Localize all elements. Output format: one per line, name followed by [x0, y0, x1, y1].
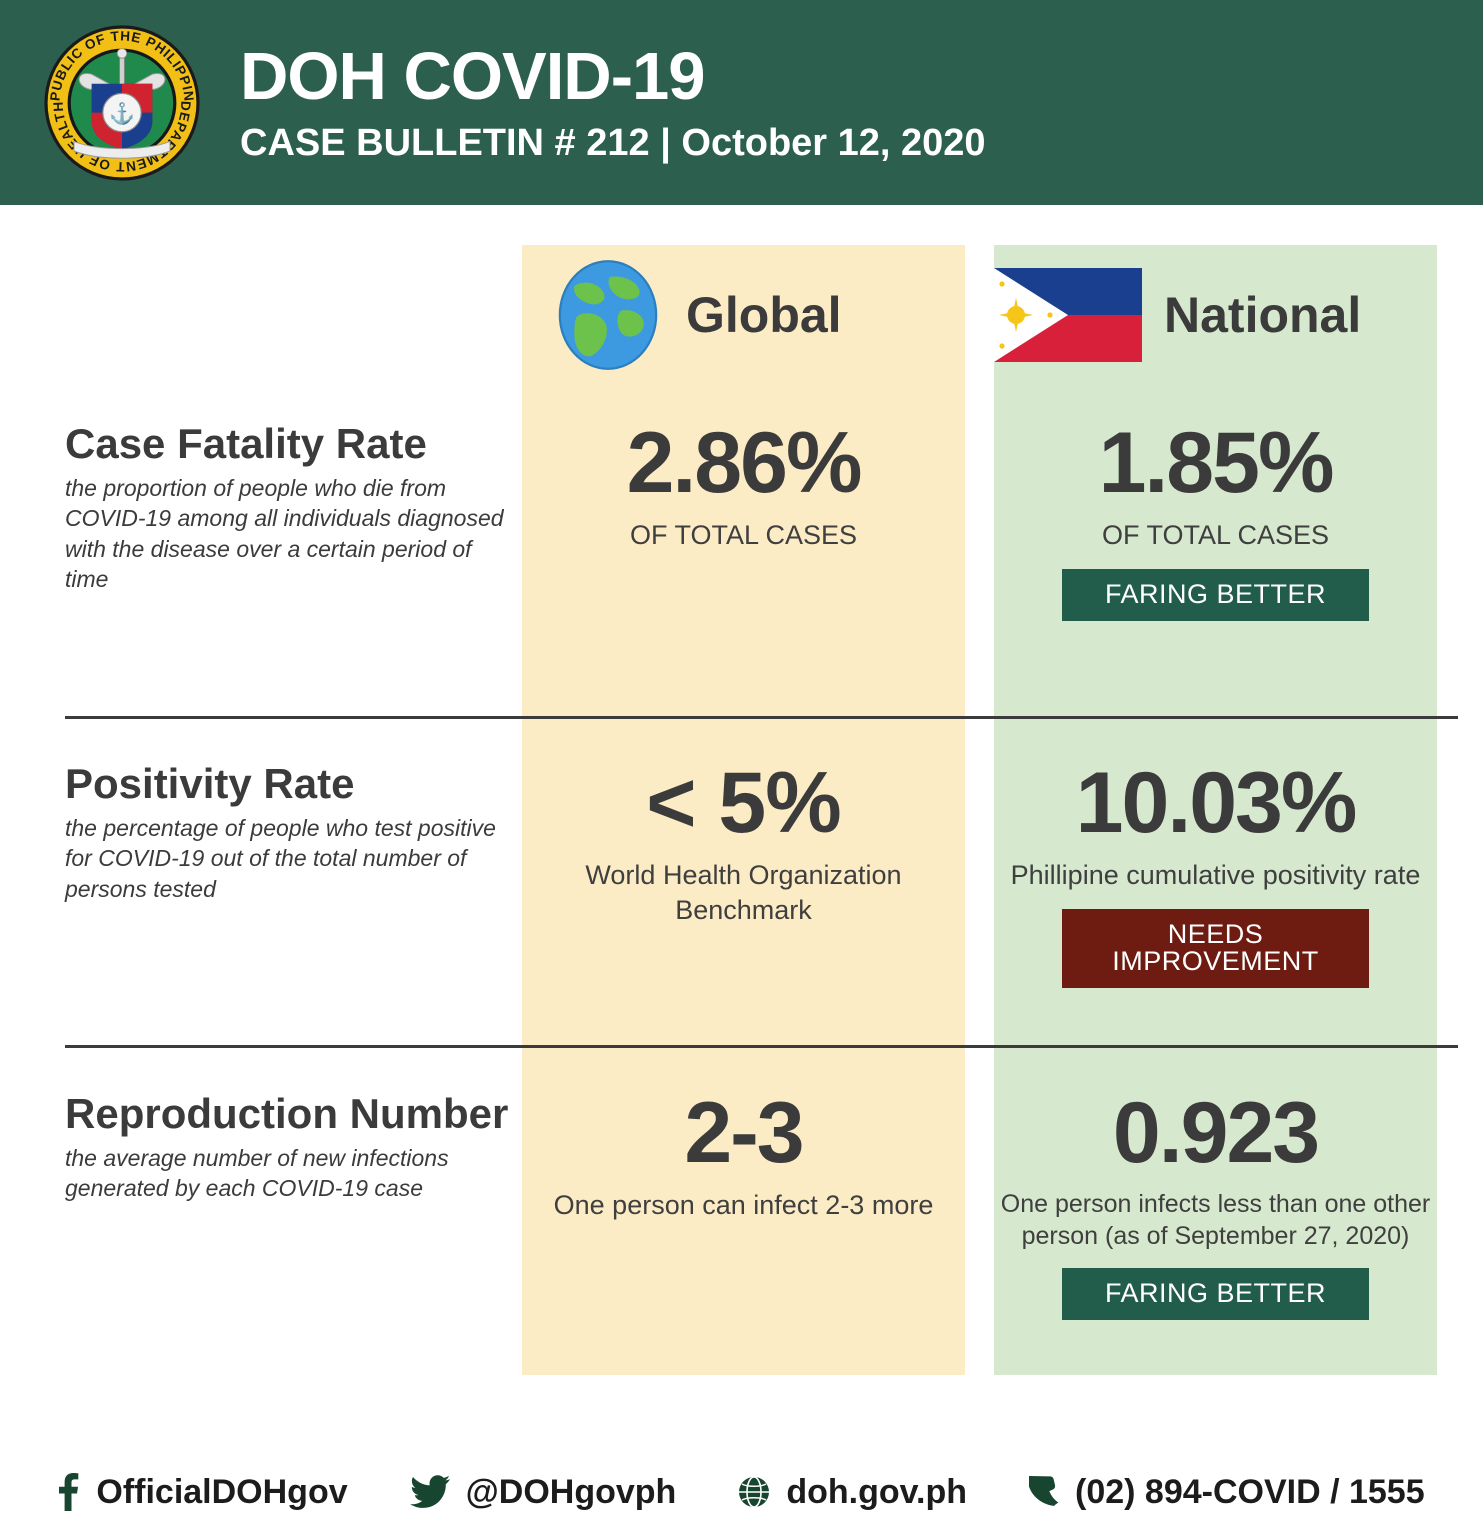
- metric-caption: OF TOTAL CASES: [994, 518, 1437, 553]
- page-footer: OfficialDOHgov @DOHgovph doh.gov.ph: [0, 1448, 1483, 1536]
- metric-big-value: 1.85%: [994, 420, 1437, 506]
- metric-caption: One person infects less than one other p…: [994, 1188, 1437, 1252]
- footer-facebook[interactable]: OfficialDOHgov: [58, 1473, 347, 1511]
- footer-label: (02) 894-COVID / 1555: [1075, 1475, 1425, 1509]
- status-badge: FARING BETTER: [1062, 569, 1369, 621]
- metric-value-global: 2.86% OF TOTAL CASES: [522, 420, 965, 553]
- philippine-flag-icon: [994, 268, 1142, 362]
- metric-title: Reproduction Number: [65, 1090, 510, 1137]
- metric-caption: One person can infect 2-3 more: [522, 1188, 965, 1223]
- metric-value-global: 2-3 One person can infect 2-3 more: [522, 1090, 965, 1223]
- twitter-icon: [410, 1475, 450, 1509]
- metric-value-global: < 5% World Health Organization Benchmark: [522, 760, 965, 927]
- metric-big-value: 10.03%: [994, 760, 1437, 846]
- metric-title: Case Fatality Rate: [65, 420, 510, 467]
- status-badge: FARING BETTER: [1062, 1268, 1369, 1320]
- column-label-global: Global: [686, 290, 842, 340]
- page-header: REPUBLIC OF THE PHILIPPINES DEPARTMENT O…: [0, 0, 1483, 205]
- column-label-national: National: [1164, 290, 1361, 340]
- row-divider: [65, 1045, 1458, 1048]
- doh-philippines-seal-icon: REPUBLIC OF THE PHILIPPINES DEPARTMENT O…: [42, 23, 202, 183]
- metric-big-value: < 5%: [522, 760, 965, 846]
- metric-row-reproduction-number: Reproduction Number the average number o…: [0, 1090, 1483, 1375]
- metric-big-value: 2.86%: [522, 420, 965, 506]
- row-divider: [65, 716, 1458, 719]
- footer-label: @DOHgovph: [466, 1475, 677, 1509]
- metric-big-value: 2-3: [522, 1090, 965, 1176]
- svg-text:⚓: ⚓: [109, 101, 135, 125]
- metric-value-national: 0.923 One person infects less than one o…: [994, 1090, 1437, 1320]
- metric-caption: OF TOTAL CASES: [522, 518, 965, 553]
- globe-icon: [552, 259, 664, 371]
- metric-row-positivity-rate: Positivity Rate the percentage of people…: [0, 760, 1483, 1045]
- metric-description: the proportion of people who die from CO…: [65, 473, 510, 594]
- metric-caption: Phillipine cumulative positivity rate: [994, 858, 1437, 893]
- column-header-global: Global: [522, 245, 965, 385]
- metric-caption: World Health Organization Benchmark: [522, 858, 965, 927]
- metric-description: the average number of new infections gen…: [65, 1143, 510, 1204]
- metric-row-case-fatality-rate: Case Fatality Rate the proportion of peo…: [0, 420, 1483, 715]
- metric-label-block: Case Fatality Rate the proportion of peo…: [65, 420, 510, 594]
- footer-label: OfficialDOHgov: [96, 1475, 347, 1509]
- metric-value-national: 10.03% Phillipine cumulative positivity …: [994, 760, 1437, 988]
- facebook-icon: [58, 1473, 80, 1511]
- footer-hotline[interactable]: (02) 894-COVID / 1555: [1029, 1475, 1425, 1509]
- page-title: DOH COVID-19: [240, 43, 986, 110]
- metric-description: the percentage of people who test positi…: [65, 813, 510, 904]
- metric-label-block: Positivity Rate the percentage of people…: [65, 760, 510, 904]
- page-subtitle: CASE BULLETIN # 212 | October 12, 2020: [240, 124, 986, 162]
- column-header-national: National: [994, 245, 1437, 385]
- metric-value-national: 1.85% OF TOTAL CASES FARING BETTER: [994, 420, 1437, 621]
- footer-label: doh.gov.ph: [786, 1475, 967, 1509]
- header-title-block: DOH COVID-19 CASE BULLETIN # 212 | Octob…: [240, 43, 986, 162]
- metric-label-block: Reproduction Number the average number o…: [65, 1090, 510, 1204]
- footer-website[interactable]: doh.gov.ph: [738, 1475, 967, 1509]
- status-badge: NEEDS IMPROVEMENT: [1062, 909, 1369, 988]
- metric-title: Positivity Rate: [65, 760, 510, 807]
- metric-big-value: 0.923: [994, 1090, 1437, 1176]
- phone-icon: [1029, 1475, 1059, 1509]
- footer-twitter[interactable]: @DOHgovph: [410, 1475, 677, 1509]
- globe-web-icon: [738, 1476, 770, 1508]
